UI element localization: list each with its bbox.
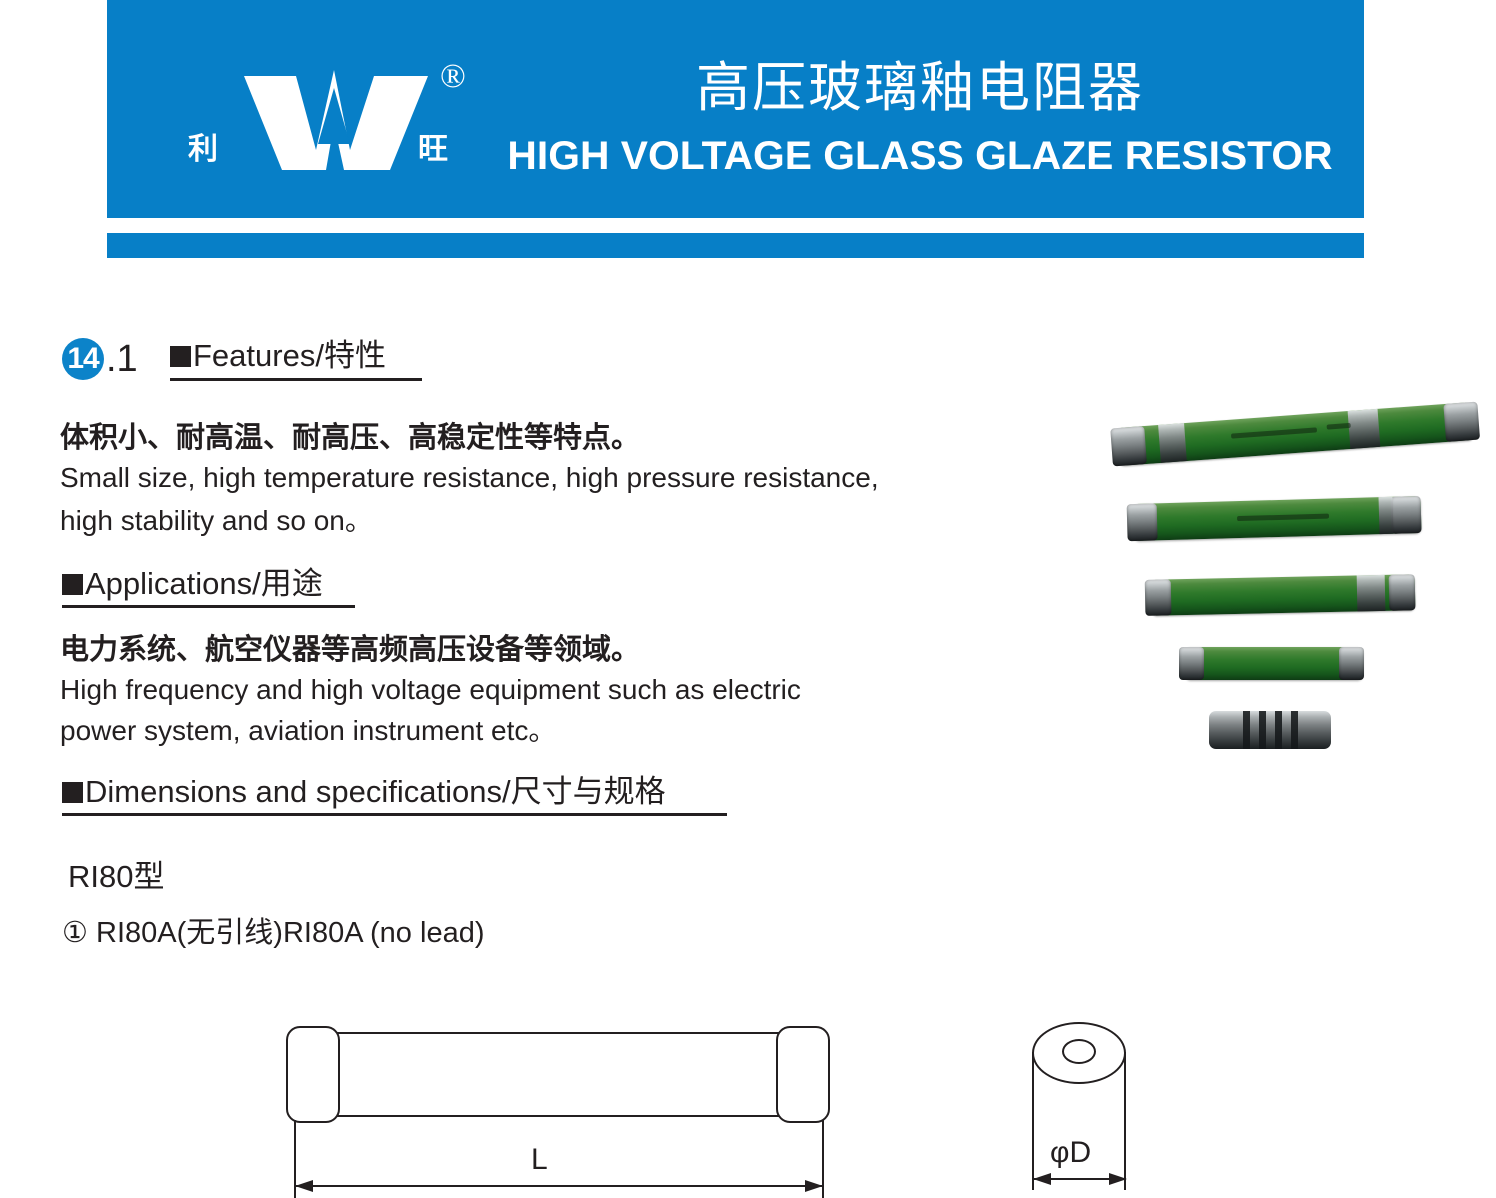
resistor-body: [1209, 711, 1331, 749]
logo-char-right: 旺: [418, 134, 448, 166]
resistor-band: [1291, 711, 1298, 749]
list-item: [1109, 388, 1481, 477]
arrow-right-icon: [805, 1180, 823, 1192]
resistor-end-cap-right: [1391, 496, 1422, 534]
applications-text-cn: 电力系统、航空仪器等高频高压设备等领域。: [60, 632, 640, 668]
resistor-band: [1275, 711, 1282, 749]
page-root: ® 利 旺 高压玻璃釉电阻器 HIGH VOLTAGE GLASS GLAZE …: [0, 0, 1496, 1198]
page-title-cn: 高压玻璃釉电阻器: [480, 57, 1360, 119]
applications-heading: Applications/用途: [62, 565, 323, 603]
resistor-end-cap-left: [1110, 426, 1147, 466]
arrow-left-icon: [295, 1180, 313, 1192]
list-item: [1144, 562, 1421, 622]
w-logo-icon: [238, 58, 438, 178]
features-heading: Features/特性: [170, 337, 386, 375]
model-title: RI80型: [68, 858, 164, 896]
features-text-en-line1: Small size, high temperature resistance,…: [60, 460, 879, 496]
list-item: [1126, 484, 1427, 548]
end-cap-outline-left: [286, 1026, 340, 1123]
arrow-right-icon: [1109, 1173, 1127, 1185]
applications-heading-label: Applications/用途: [85, 566, 323, 601]
resistor-band: [1357, 575, 1386, 612]
resistor-band: [1379, 497, 1394, 534]
features-text-en-line2: high stability and so on。: [60, 503, 373, 539]
applications-text-en-line1: High frequency and high voltage equipmen…: [60, 672, 801, 708]
bullet-square-icon: [62, 782, 83, 803]
cylinder-hole-ellipse: [1062, 1039, 1096, 1064]
header-accent-bar: [107, 233, 1364, 258]
page-title-en: HIGH VOLTAGE GLASS GLAZE RESISTOR: [471, 133, 1369, 179]
resistor-band: [1259, 711, 1266, 749]
features-text-cn: 体积小、耐高温、耐高压、高稳定性等特点。: [60, 420, 640, 456]
features-heading-label: Features/特性: [193, 338, 386, 373]
diameter-dimension-label: φD: [1050, 1136, 1091, 1170]
dimensions-heading-label: Dimensions and specifications/尺寸与规格: [85, 774, 666, 809]
resistor-end-cap-right: [1443, 402, 1480, 442]
registered-trademark-icon: ®: [440, 60, 466, 94]
resistor-end-cap-right: [1389, 574, 1416, 611]
side-view-drawing: L: [286, 1010, 826, 1198]
logo-char-left: 利: [188, 134, 218, 166]
section-number-badge: 14: [62, 338, 104, 380]
resistor-body-outline: [332, 1032, 784, 1117]
resistor-band: [1158, 423, 1187, 463]
list-item: [1209, 705, 1331, 753]
resistor-end-cap-left: [1127, 503, 1158, 541]
list-item: [1179, 637, 1369, 687]
resistor-end-cap-left: [1145, 579, 1172, 616]
applications-text-en-line2: power system, aviation instrument etc。: [60, 713, 556, 749]
product-photo-group: [1105, 393, 1485, 763]
variant-title: ① RI80A(无引线)RI80A (no lead): [62, 915, 484, 951]
company-logo: ® 利 旺: [178, 48, 488, 188]
dimensions-heading-rule: [62, 813, 727, 816]
features-heading-rule: [170, 378, 422, 381]
bullet-square-icon: [62, 574, 83, 595]
dimension-line: [296, 1185, 822, 1187]
arrow-left-icon: [1033, 1173, 1051, 1185]
applications-heading-rule: [62, 605, 355, 608]
length-dimension-label: L: [531, 1143, 548, 1177]
bullet-square-icon: [170, 346, 191, 367]
resistor-end-cap-right: [1339, 647, 1364, 680]
dimensions-heading: Dimensions and specifications/尺寸与规格: [62, 773, 666, 811]
end-cap-outline-right: [776, 1026, 830, 1123]
section-subnumber: .1: [106, 336, 138, 382]
resistor-end-cap-left: [1179, 647, 1204, 680]
end-view-drawing: φD: [1020, 1010, 1200, 1198]
resistor-body: [1185, 647, 1363, 680]
resistor-band: [1348, 409, 1381, 449]
resistor-band: [1243, 711, 1250, 749]
